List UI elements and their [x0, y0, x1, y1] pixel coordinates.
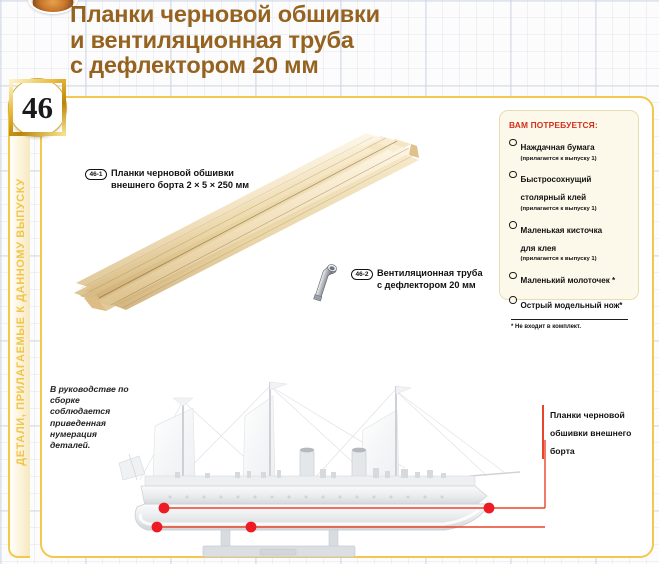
checkbox-circle-icon[interactable]	[509, 296, 517, 304]
side-tab-label: ДЕТАЛИ, ПРИЛАГАЕМЫЕ К ДАННОМУ ВЫПУСКУ	[15, 97, 27, 547]
ship-annotation-callout: Планки черновой обшивки внешнего борта	[542, 405, 647, 459]
material-label: Маленький молоточек *	[521, 276, 616, 285]
part-number-badge: 46-1	[85, 169, 107, 180]
materials-required-panel: ВАМ ПОТРЕБУЕТСЯ: Наждачная бумага (прила…	[499, 110, 639, 300]
materials-list-item[interactable]: Быстросохнущий столярный клей (прилагает…	[509, 169, 630, 213]
part-description: Вентиляционная труба с дефлектором 20 мм	[377, 268, 483, 291]
material-label: Быстросохнущий столярный клей	[521, 175, 592, 202]
divider	[511, 319, 628, 320]
material-label: Острый модельный нож*	[521, 301, 623, 310]
ship-annotation-text: Планки черновой обшивки внешнего борта	[550, 410, 631, 456]
part-callout-46-1: 46-1 Планки черновой обшивки внешнего бо…	[85, 168, 249, 191]
materials-list-item[interactable]: Острый модельный нож*	[509, 295, 630, 313]
materials-footnote: * Не входит в комплект.	[509, 324, 630, 330]
checkbox-circle-icon[interactable]	[509, 221, 517, 229]
side-tab-strip: ДЕТАЛИ, ПРИЛАГАЕМЫЕ К ДАННОМУ ВЫПУСКУ	[8, 96, 30, 558]
material-label: Наждачная бумага	[521, 143, 595, 152]
material-sublabel: (прилагается к выпуску 1)	[521, 256, 631, 263]
part-description: Планки черновой обшивки внешнего борта 2…	[111, 168, 249, 191]
material-sublabel: (прилагается к выпуску 1)	[521, 156, 631, 163]
materials-list-item[interactable]: Маленькая кисточка для клея (прилагается…	[509, 220, 630, 264]
materials-panel-title: ВАМ ПОТРЕБУЕТСЯ:	[509, 120, 630, 130]
checkbox-circle-icon[interactable]	[509, 139, 517, 147]
page-title-line-2: и вентиляционная труба	[70, 28, 540, 54]
part-callout-46-2: 46-2 Вентиляционная труба с дефлектором …	[351, 268, 483, 291]
ship-model-illustration	[115, 368, 530, 558]
page-number-value: 46	[22, 92, 53, 123]
material-sublabel: (прилагается к выпуску 1)	[521, 206, 631, 213]
page-title-line-3: с дефлектором 20 мм	[70, 53, 540, 79]
material-label: Маленькая кисточка для клея	[521, 226, 603, 253]
materials-list-item[interactable]: Маленький молоточек *	[509, 270, 630, 288]
page-number-badge: 46	[9, 79, 66, 136]
checkbox-circle-icon[interactable]	[509, 171, 517, 179]
materials-list-item[interactable]: Наждачная бумага (прилагается к выпуску …	[509, 137, 630, 163]
ventilation-pipe-icon	[305, 258, 345, 306]
part-number-badge: 46-2	[351, 269, 373, 280]
checkbox-circle-icon[interactable]	[509, 272, 517, 280]
page-title-line-1: Планки черновой обшивки	[70, 2, 540, 28]
page-title: Планки черновой обшивки и вентиляционная…	[70, 2, 540, 79]
assembly-note: В руководстве по сборке соблюдается прив…	[50, 384, 130, 451]
